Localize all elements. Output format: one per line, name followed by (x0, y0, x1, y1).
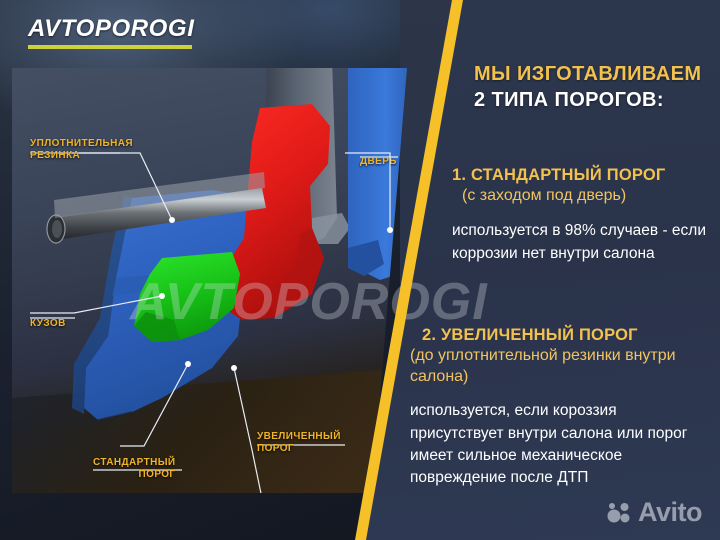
panel-heading-line1: МЫ ИЗГОТАВЛИВАЕМ (474, 62, 714, 88)
callout-body-label: КУЗОВ (30, 318, 66, 329)
section-extended: 2. УВЕЛИЧЕННЫЙ ПОРОГ (до уплотнительной … (410, 325, 702, 490)
callout-body: КУЗОВ (30, 305, 66, 330)
callout-standard-sill: СТАНДАРТНЫЙ ПОРОГ (93, 444, 176, 482)
section-standard-body: используется в 98% случаев - если корроз… (452, 220, 714, 265)
callout-seal-rubber-label: УПЛОТНИТЕЛЬНАЯ РЕЗИНКА (30, 138, 133, 162)
section-extended-subtitle: (до уплотнительной резинки внутри салона… (410, 346, 702, 388)
door-leader-line (340, 130, 420, 250)
callout-extended-sill-label: УВЕЛИЧЕННЫЙ ПОРОГ (257, 431, 341, 455)
section-extended-body: используется, если короззия присутствует… (410, 400, 702, 490)
brand-logo-text: AVTOPOROGI (28, 17, 194, 41)
avito-dots-icon (607, 501, 633, 525)
avito-wordmark: Avito (638, 499, 702, 526)
panel-heading-line2: 2 ТИПА ПОРОГОВ: (474, 88, 714, 114)
section-standard-title: 1. СТАНДАРТНЫЙ ПОРОГ (452, 165, 714, 186)
section-standard: 1. СТАНДАРТНЫЙ ПОРОГ (с заходом под двер… (452, 165, 714, 265)
section-standard-subtitle: (с заходом под дверь) (462, 186, 714, 207)
callout-seal-rubber: УПЛОТНИТЕЛЬНАЯ РЕЗИНКА (30, 125, 133, 163)
poster-canvas: AVTOPOROGI УПЛОТНИТЕЛЬНАЯ РЕЗИНКА ДВЕРЬ … (0, 0, 720, 540)
brand-logo-underline (28, 45, 192, 49)
callout-extended-sill: УВЕЛИЧЕННЫЙ ПОРОГ (257, 418, 341, 456)
callout-standard-sill-label: СТАНДАРТНЫЙ ПОРОГ (93, 457, 176, 481)
panel-heading: МЫ ИЗГОТАВЛИВАЕМ 2 ТИПА ПОРОГОВ: (474, 62, 714, 113)
avito-badge: Avito (607, 499, 702, 526)
section-extended-title: 2. УВЕЛИЧЕННЫЙ ПОРОГ (422, 325, 702, 346)
brand-logo[interactable]: AVTOPOROGI (28, 17, 194, 49)
